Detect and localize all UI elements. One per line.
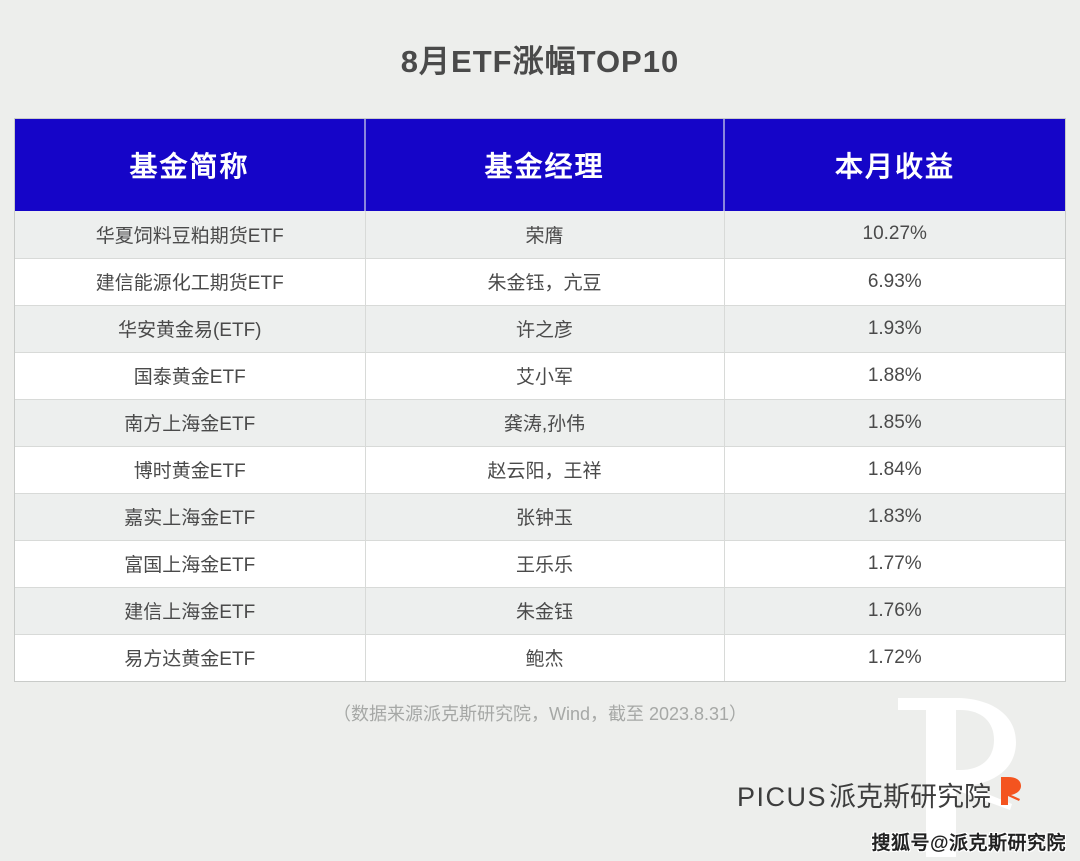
cell-fund-name: 华安黄金易(ETF) <box>15 305 365 352</box>
cell-fund-manager: 张钟玉 <box>365 493 724 540</box>
cell-fund-name: 建信上海金ETF <box>15 587 365 634</box>
cell-fund-name: 建信能源化工期货ETF <box>15 258 365 305</box>
report-page: 8月ETF涨幅TOP10 基金简称 基金经理 本月收益 华夏饲料豆粕期货ETF … <box>0 0 1080 861</box>
table-row: 博时黄金ETF 赵云阳，王祥 1.84% <box>15 446 1065 493</box>
sohu-attribution: 搜狐号@派克斯研究院 <box>871 828 1066 855</box>
table-row: 华夏饲料豆粕期货ETF 荣膺 10.27% <box>15 211 1065 258</box>
cell-fund-name: 富国上海金ETF <box>15 540 365 587</box>
cell-fund-manager: 朱金钰 <box>365 587 724 634</box>
cell-monthly-return: 1.76% <box>724 587 1065 634</box>
logo-chinese-text: 派克斯研究院 <box>829 782 991 812</box>
cell-fund-name: 国泰黄金ETF <box>15 352 365 399</box>
column-header-monthly-return: 本月收益 <box>724 119 1065 211</box>
table-row: 南方上海金ETF 龚涛,孙伟 1.85% <box>15 399 1065 446</box>
cell-fund-manager: 荣膺 <box>365 211 724 258</box>
page-title: 8月ETF涨幅TOP10 <box>0 40 1080 84</box>
cell-monthly-return: 1.84% <box>724 446 1065 493</box>
table-row: 建信上海金ETF 朱金钰 1.76% <box>15 587 1065 634</box>
cell-monthly-return: 1.77% <box>724 540 1065 587</box>
table-header-row: 基金简称 基金经理 本月收益 <box>15 119 1065 211</box>
table-row: 易方达黄金ETF 鲍杰 1.72% <box>15 634 1065 681</box>
table-row: 建信能源化工期货ETF 朱金钰，亢豆 6.93% <box>15 258 1065 305</box>
cell-monthly-return: 1.83% <box>724 493 1065 540</box>
cell-monthly-return: 1.85% <box>724 399 1065 446</box>
cell-monthly-return: 6.93% <box>724 258 1065 305</box>
cell-fund-name: 华夏饲料豆粕期货ETF <box>15 211 365 258</box>
etf-ranking-table: 基金简称 基金经理 本月收益 华夏饲料豆粕期货ETF 荣膺 10.27% 建信能… <box>14 118 1066 682</box>
cell-fund-manager: 王乐乐 <box>365 540 724 587</box>
cell-fund-name: 易方达黄金ETF <box>15 634 365 681</box>
cell-monthly-return: 1.93% <box>724 305 1065 352</box>
cell-fund-name: 南方上海金ETF <box>15 399 365 446</box>
picus-mark-icon <box>996 776 1022 806</box>
column-header-fund-manager: 基金经理 <box>365 119 724 211</box>
logo-latin-text: PICUS <box>737 782 827 812</box>
cell-fund-manager: 鲍杰 <box>365 634 724 681</box>
cell-fund-manager: 龚涛,孙伟 <box>365 399 724 446</box>
data-source-footnote: （数据来源派克斯研究院，Wind，截至 2023.8.31） <box>0 700 1080 728</box>
cell-fund-name: 博时黄金ETF <box>15 446 365 493</box>
column-header-fund-name: 基金简称 <box>15 119 365 211</box>
cell-fund-manager: 赵云阳，王祥 <box>365 446 724 493</box>
table-row: 国泰黄金ETF 艾小军 1.88% <box>15 352 1065 399</box>
cell-fund-manager: 许之彦 <box>365 305 724 352</box>
table-body: 华夏饲料豆粕期货ETF 荣膺 10.27% 建信能源化工期货ETF 朱金钰，亢豆… <box>15 211 1065 681</box>
picus-logo: PICUS 派克斯研究院 <box>737 778 1022 812</box>
cell-monthly-return: 1.88% <box>724 352 1065 399</box>
cell-monthly-return: 1.72% <box>724 634 1065 681</box>
cell-monthly-return: 10.27% <box>724 211 1065 258</box>
cell-fund-manager: 艾小军 <box>365 352 724 399</box>
table-row: 富国上海金ETF 王乐乐 1.77% <box>15 540 1065 587</box>
table-row: 华安黄金易(ETF) 许之彦 1.93% <box>15 305 1065 352</box>
cell-fund-name: 嘉实上海金ETF <box>15 493 365 540</box>
table-row: 嘉实上海金ETF 张钟玉 1.83% <box>15 493 1065 540</box>
cell-fund-manager: 朱金钰，亢豆 <box>365 258 724 305</box>
